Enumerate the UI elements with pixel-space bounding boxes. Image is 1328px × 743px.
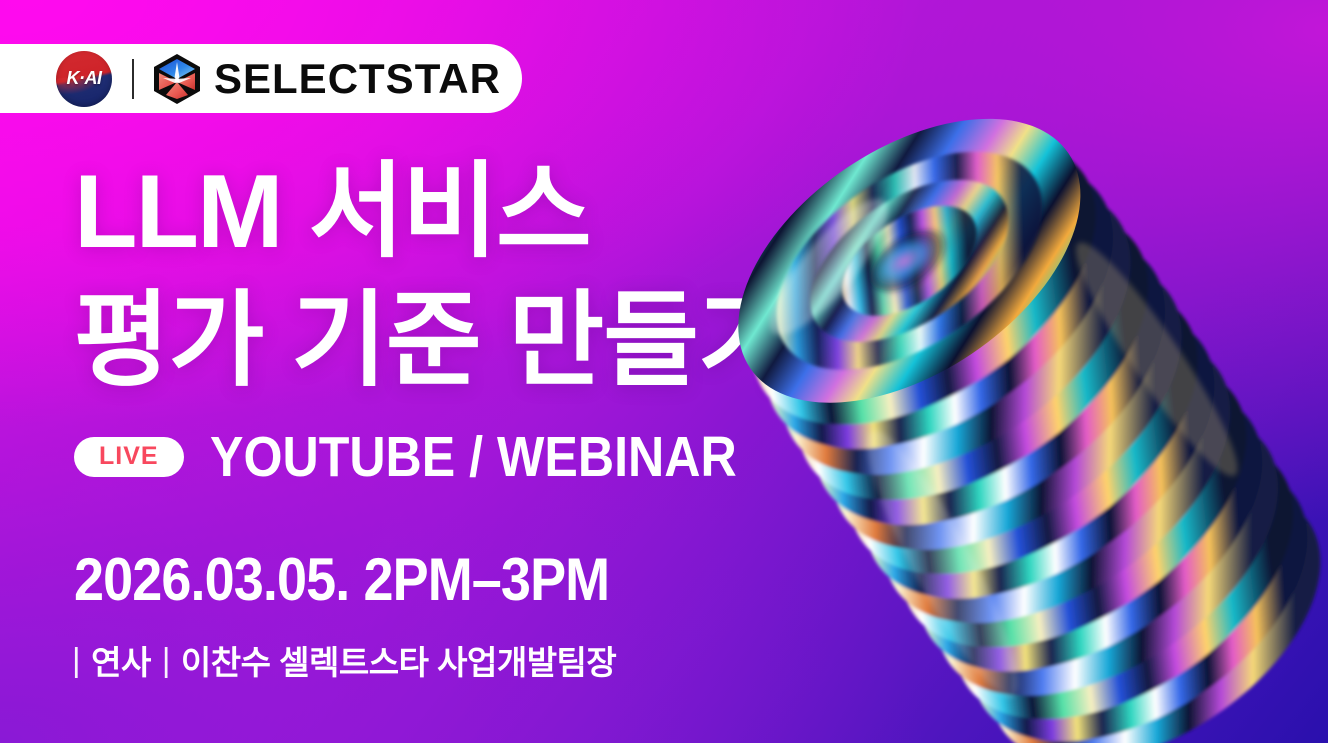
speaker-role-label: 연사 — [91, 636, 151, 684]
date-time-label: 2026.03.05. 2PM–3PM — [74, 545, 609, 614]
k-ai-logo: K·AI — [56, 51, 112, 107]
live-badge: LIVE — [74, 437, 184, 477]
logo-bar: K·AI — [0, 44, 522, 113]
selectstar-hexagon-icon — [154, 54, 200, 104]
speaker-right-pipe: | — [162, 641, 170, 679]
speaker-name-title: 이찬수 셀렉트스타 사업개발팀장 — [181, 636, 616, 684]
headline: LLM 서비스 평가 기준 만들기 — [74, 148, 793, 406]
platform-label: YOUTUBE / WEBINAR — [210, 424, 737, 490]
speaker-left-pipe: | — [72, 641, 80, 679]
speaker-line: | 연사 | 이찬수 셀렉트스타 사업개발팀장 — [72, 636, 616, 684]
headline-line-1: LLM 서비스 — [74, 148, 793, 277]
live-platform-row: LIVE YOUTUBE / WEBINAR — [74, 424, 808, 490]
logo-divider — [132, 59, 134, 99]
headline-line-2: 평가 기준 만들기 — [74, 277, 793, 406]
selectstar-brand-name: SELECTSTAR — [214, 55, 501, 103]
k-ai-logo-text: K·AI — [56, 51, 112, 107]
webinar-promo-banner: K·AI — [0, 0, 1328, 743]
